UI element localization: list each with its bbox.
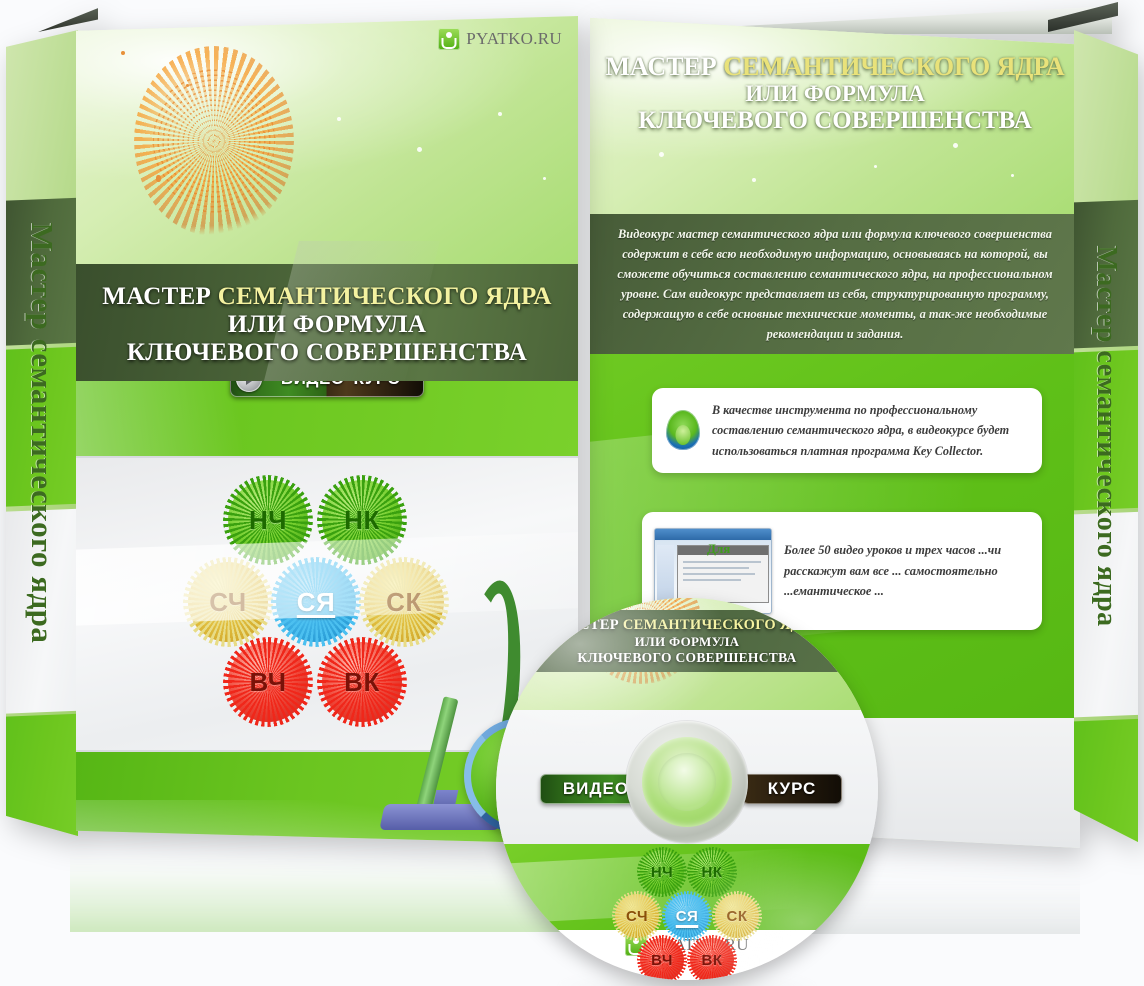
front-cover-hero: PYATKO.RU	[76, 16, 578, 268]
front-cover-box: Мастер семантического ядра	[6, 4, 578, 840]
cd-badge-sya: СЯ	[665, 894, 709, 938]
cd-disc: МАСТЕР СЕМАНТИЧЕСКОГО ЯДРА ИЛИ ФОРМУЛА К…	[496, 598, 878, 980]
kurs-label: КУРС	[354, 381, 401, 389]
front-title-plain: МАСТЕР	[102, 283, 217, 310]
front-cover-title-band: МАСТЕР СЕМАНТИЧЕСКОГО ЯДРА ИЛИ ФОРМУЛА К…	[76, 264, 578, 381]
cd-badge-sch: СЧ	[615, 894, 659, 938]
back-title-line3: КЛЮЧЕВОГО СОВЕРШЕНСТВА	[590, 107, 1080, 135]
front-title-line2: ИЛИ ФОРМУЛА	[228, 311, 426, 339]
back-cover-title: МАСТЕР СЕМАНТИЧЕСКОГО ЯДРА ИЛИ ФОРМУЛА К…	[590, 52, 1080, 135]
cd-kurs-label: КУРС	[742, 774, 842, 804]
badge-sya: СЯ	[276, 562, 356, 642]
back-spine-text: Мастер семантического ядра	[1090, 30, 1122, 842]
callout-key-collector: В качестве инструмента по профессиональн…	[652, 388, 1042, 473]
front-title-highlight: СЕМАНТИЧЕСКОГО ЯДРА	[218, 283, 552, 310]
callout-lessons-text: Более 50 видео уроков и трех часов ...чи…	[784, 540, 1028, 602]
front-box-spine: Мастер семантического ядра	[6, 30, 78, 836]
play-icon	[236, 381, 262, 392]
cd-center-hub	[626, 721, 748, 843]
cd-keyword-badge-cluster: НЧ НК СЧ СЯ СК ВЧ ВК	[612, 850, 762, 972]
light-specks	[76, 16, 578, 268]
cd-title-band: МАСТЕР СЕМАНТИЧЕСКОГО ЯДРА ИЛИ ФОРМУЛА К…	[496, 610, 878, 672]
cd-title-line2: ИЛИ ФОРМУЛА	[635, 634, 740, 650]
cd-badge-vch: ВЧ	[640, 938, 684, 980]
front-box-top-edge-shadow	[38, 6, 98, 32]
badge-sch: СЧ	[188, 562, 268, 642]
product-box-composition: МАСТЕР СЕМАНТИЧЕСКОГО ЯДРА ИЛИ ФОРМУЛА К…	[0, 0, 1144, 979]
back-cover-description: Видеокурс мастер семантического ядра или…	[612, 224, 1058, 345]
back-cover-hero: МАСТЕР СЕМАНТИЧЕСКОГО ЯДРА ИЛИ ФОРМУЛА К…	[590, 18, 1080, 234]
callout-key-collector-text: В качестве инструмента по профессиональн…	[712, 400, 1028, 461]
cd-title-highlight: СЕМАНТИЧЕСКОГО ЯДРА	[623, 617, 819, 633]
cd-title-plain: МАСТЕР	[555, 617, 623, 633]
key-collector-drop-icon	[666, 410, 700, 450]
cd-badge-nk: НК	[690, 850, 734, 894]
back-cover-description-band: Видеокурс мастер семантического ядра или…	[590, 214, 1080, 354]
cd-badge-vk: ВК	[690, 938, 734, 980]
pyatko-leaf-icon	[438, 28, 460, 50]
badge-nk: НК	[322, 480, 402, 560]
brand-logo-text: PYATKO.RU	[466, 29, 562, 49]
brand-logo: PYATKO.RU	[438, 28, 562, 50]
cd-badge-nch: НЧ	[640, 850, 684, 894]
badge-vch: ВЧ	[228, 642, 308, 722]
back-box-spine: Мастер семантического ядра	[1074, 30, 1138, 842]
video-label: ВИДЕО	[281, 381, 345, 389]
back-title-highlight: СЕМАНТИЧЕСКОГО ЯДРА	[723, 52, 1064, 81]
cd-title-line3: КЛЮЧЕВОГО СОВЕРШЕНСТВА	[577, 650, 796, 666]
front-spine-text: Мастер семантического ядра	[24, 30, 60, 836]
video-course-button[interactable]: ВИДЕО КУРС	[230, 381, 424, 397]
front-title-line3: КЛЮЧЕВОГО СОВЕРШЕНСТВА	[127, 339, 527, 367]
badge-nch: НЧ	[228, 480, 308, 560]
back-title-plain: МАСТЕР	[605, 52, 723, 81]
cd-badge-sk: СК	[715, 894, 759, 938]
back-title-line2: ИЛИ ФОРМУЛА	[590, 81, 1080, 107]
